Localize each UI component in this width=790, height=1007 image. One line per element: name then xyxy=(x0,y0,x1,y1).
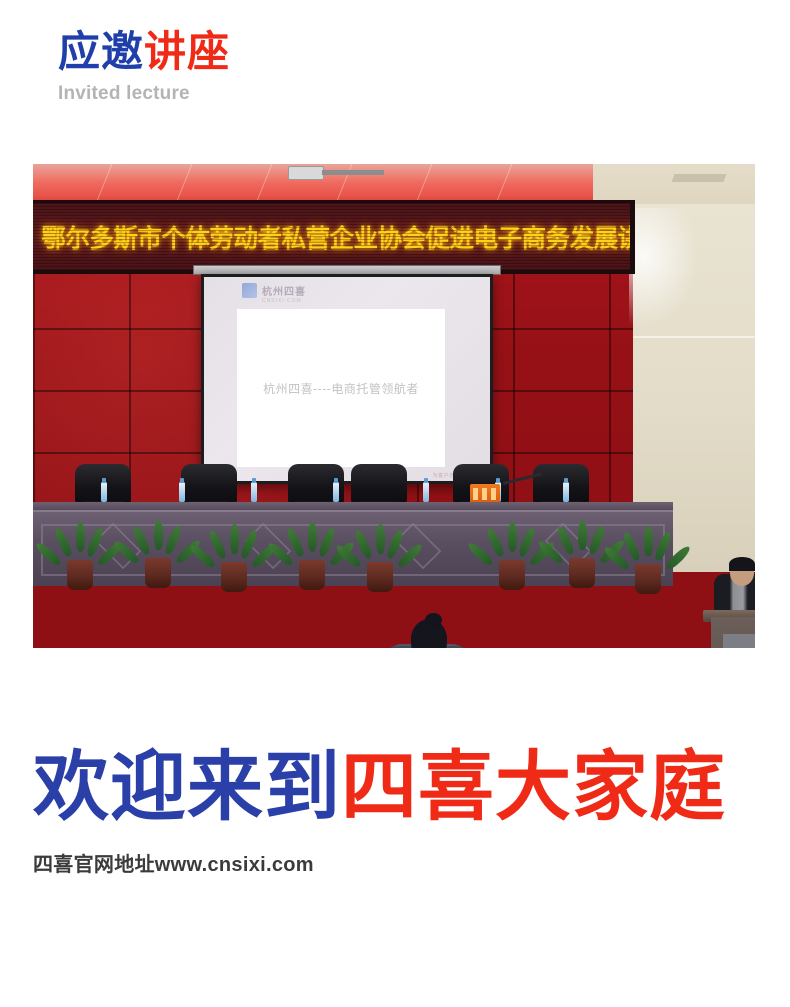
water-bottle xyxy=(423,482,429,502)
speaker-hair xyxy=(729,557,755,571)
stage-chair xyxy=(533,464,589,504)
plant-pot xyxy=(569,558,595,588)
page-subtitle: Invited lecture xyxy=(58,83,698,105)
slide-title: 杭州四喜----电商托管领航者 xyxy=(263,380,419,397)
page-title-part-red: 讲座 xyxy=(144,28,230,75)
slide-logo-subtext: CNSIXI.COM xyxy=(262,298,302,304)
welcome-headline-red: 四喜大家庭 xyxy=(341,745,726,830)
water-bottle xyxy=(251,482,257,502)
projector-mount xyxy=(322,170,384,175)
stage-chair xyxy=(181,464,237,504)
potted-plant xyxy=(483,516,541,590)
podium-panel xyxy=(723,634,755,648)
water-bottle xyxy=(563,482,569,502)
welcome-headline: 欢迎来到四喜大家庭 xyxy=(33,748,763,828)
wall-light-glow xyxy=(629,208,699,328)
potted-plant xyxy=(205,518,263,592)
plant-pot xyxy=(499,560,525,590)
stage-chair xyxy=(351,464,407,504)
potted-plant xyxy=(553,514,611,588)
lecture-hall-photo: 鄂尔多斯市个体劳动者私营企业协会促进电子商务发展讲座 杭州四喜 CNSIXI.C… xyxy=(33,164,755,648)
plant-pot xyxy=(367,562,393,592)
plant-pot xyxy=(221,562,247,592)
slide-logo: 杭州四喜 xyxy=(242,283,306,298)
water-bottle xyxy=(333,482,339,502)
potted-plant xyxy=(619,520,677,594)
official-site-line: 四喜官网地址www.cnsixi.com xyxy=(33,848,314,877)
page-title-part-blue: 应邀 xyxy=(58,28,144,75)
page-header: 应邀讲座 Invited lecture xyxy=(58,28,698,105)
led-banner-text: 鄂尔多斯市个体劳动者私营企业协会促进电子商务发展讲座 xyxy=(39,219,635,255)
potted-plant xyxy=(283,516,341,590)
water-bottle xyxy=(101,482,107,502)
slide-logo-text: 杭州四喜 xyxy=(262,283,306,298)
welcome-headline-blue: 欢迎来到 xyxy=(33,745,341,830)
page-title: 应邀讲座 xyxy=(58,28,698,76)
slide-logo-mark-icon xyxy=(242,283,257,298)
plant-pot xyxy=(635,564,661,594)
water-bottle xyxy=(179,482,185,502)
projector-icon xyxy=(288,166,324,180)
stage-equipment-box xyxy=(470,484,500,504)
ceiling-vent xyxy=(672,174,727,182)
led-banner: 鄂尔多斯市个体劳动者私营企业协会促进电子商务发展讲座 xyxy=(33,200,635,274)
potted-plant xyxy=(129,514,187,588)
potted-plant xyxy=(51,516,109,590)
projection-screen: 杭州四喜 CNSIXI.COM 杭州四喜----电商托管领航者 为客户创造 服务… xyxy=(204,277,490,481)
potted-plant xyxy=(351,518,409,592)
plant-pot xyxy=(145,558,171,588)
plant-pot xyxy=(299,560,325,590)
standing-photographer-hair-bun xyxy=(425,613,442,627)
plant-pot xyxy=(67,560,93,590)
slide-body: 杭州四喜----电商托管领航者 xyxy=(237,309,445,467)
